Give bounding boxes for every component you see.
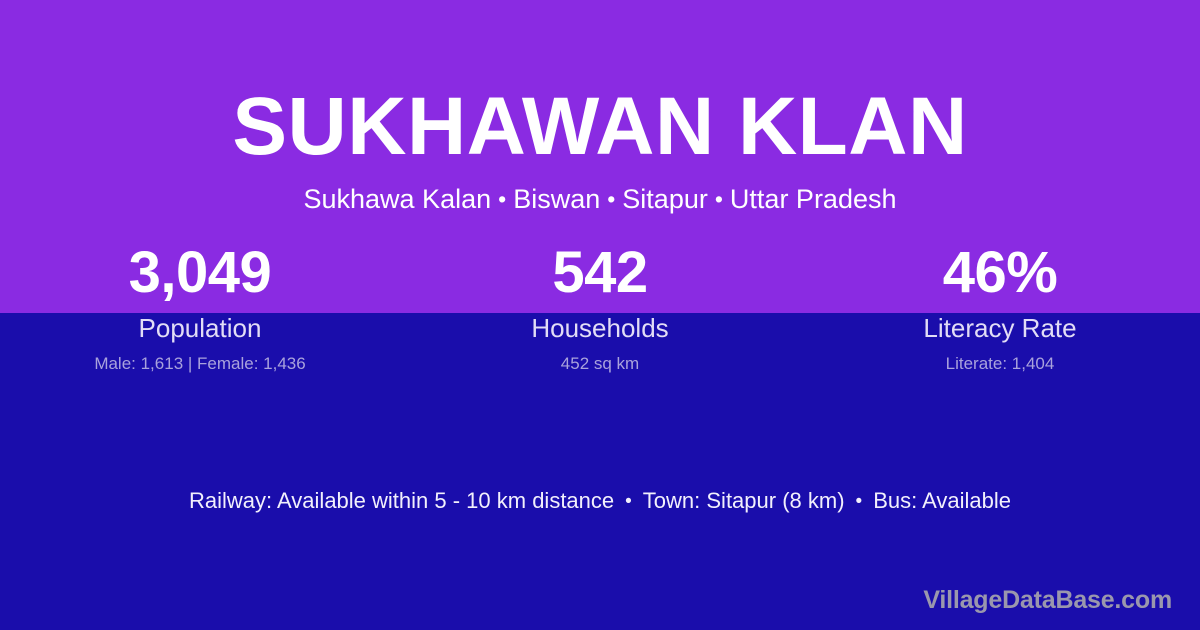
amenities-line: Railway: Available within 5 - 10 km dist… bbox=[0, 486, 1200, 517]
stat-value: 46% bbox=[800, 236, 1200, 310]
breadcrumb-separator: • bbox=[708, 186, 730, 212]
stat-label: Households bbox=[400, 313, 800, 344]
amenity-separator: • bbox=[614, 491, 643, 512]
breadcrumb-separator: • bbox=[600, 186, 622, 212]
stat-label: Population bbox=[0, 313, 400, 344]
village-info-card: SUKHAWAN KLAN Sukhawa Kalan•Biswan•Sitap… bbox=[0, 0, 1200, 630]
breadcrumb-part: Sitapur bbox=[622, 184, 708, 214]
stat-block-literacy-rate: 46%Literacy RateLiterate: 1,404 bbox=[800, 236, 1200, 374]
amenity-item: Town: Sitapur (8 km) bbox=[643, 488, 845, 513]
breadcrumb-part: Uttar Pradesh bbox=[730, 184, 897, 214]
stat-value: 3,049 bbox=[0, 236, 400, 310]
stat-block-households: 542Households452 sq km bbox=[400, 236, 800, 374]
stat-detail: Literate: 1,404 bbox=[800, 353, 1200, 374]
breadcrumb-part: Sukhawa Kalan bbox=[303, 184, 491, 214]
amenity-item: Railway: Available within 5 - 10 km dist… bbox=[189, 488, 614, 513]
amenity-separator: • bbox=[845, 491, 874, 512]
site-watermark: VillageDataBase.com bbox=[923, 584, 1172, 616]
stats-row: 3,049PopulationMale: 1,613 | Female: 1,4… bbox=[0, 236, 1200, 374]
breadcrumb-separator: • bbox=[491, 186, 513, 212]
stat-detail: Male: 1,613 | Female: 1,436 bbox=[0, 353, 400, 374]
stat-block-population: 3,049PopulationMale: 1,613 | Female: 1,4… bbox=[0, 236, 400, 374]
stat-value: 542 bbox=[400, 236, 800, 310]
page-title: SUKHAWAN KLAN bbox=[0, 78, 1200, 176]
amenity-item: Bus: Available bbox=[873, 488, 1011, 513]
stat-label: Literacy Rate bbox=[800, 313, 1200, 344]
breadcrumb: Sukhawa Kalan•Biswan•Sitapur•Uttar Prade… bbox=[0, 182, 1200, 216]
breadcrumb-part: Biswan bbox=[513, 184, 600, 214]
stat-detail: 452 sq km bbox=[400, 353, 800, 374]
